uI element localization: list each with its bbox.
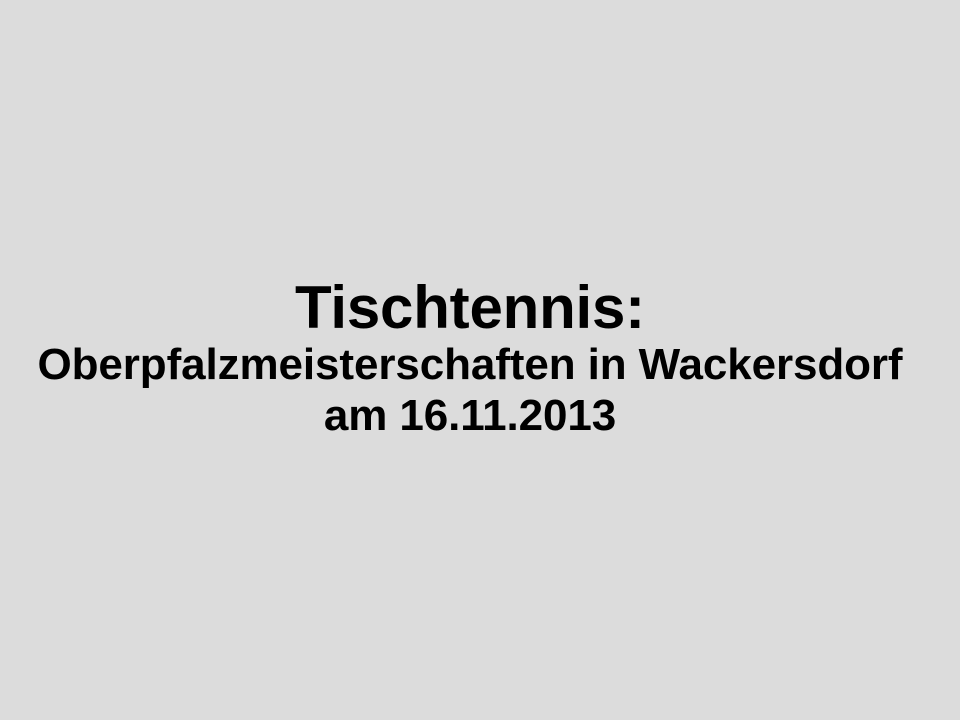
slide-title-line-3: am 16.11.2013 <box>0 390 940 442</box>
slide-title-block: Tischtennis: Oberpfalzmeisterschaften in… <box>0 276 940 442</box>
presentation-slide: Tischtennis: Oberpfalzmeisterschaften in… <box>0 0 960 720</box>
slide-title-line-2: Oberpfalzmeisterschaften in Wackersdorf <box>0 340 940 390</box>
slide-title-line-1: Tischtennis: <box>0 276 940 340</box>
